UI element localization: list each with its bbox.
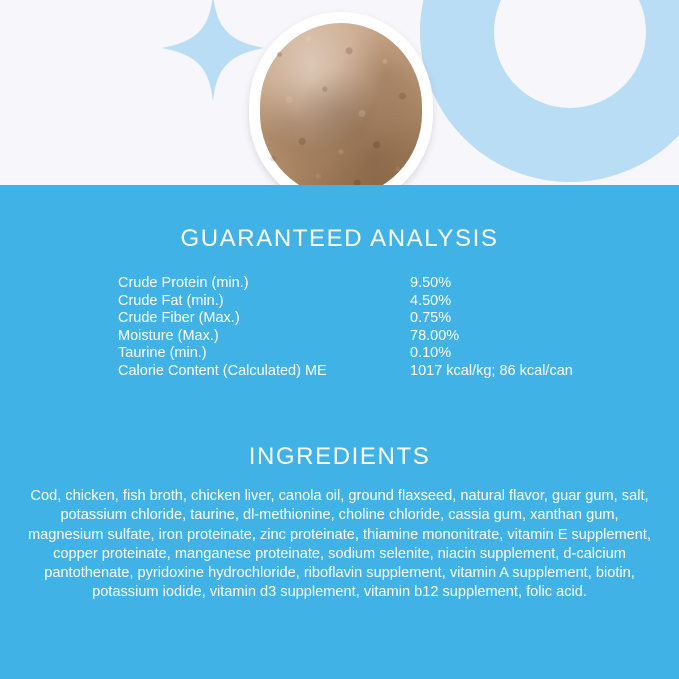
table-row: Crude Protein (min.) 9.50% bbox=[118, 275, 578, 293]
analysis-value: 0.75% bbox=[410, 310, 578, 328]
food-bowl-image bbox=[249, 12, 433, 185]
analysis-label: Crude Fat (min.) bbox=[118, 293, 410, 311]
ingredients-title: INGREDIENTS bbox=[0, 443, 679, 471]
table-row: Crude Fiber (Max.) 0.75% bbox=[118, 310, 578, 328]
table-row: Taurine (min.) 0.10% bbox=[118, 345, 578, 363]
analysis-value: 4.50% bbox=[410, 293, 578, 311]
analysis-label: Calorie Content (Calculated) ME bbox=[118, 363, 410, 381]
analysis-value: 9.50% bbox=[410, 275, 578, 293]
guaranteed-analysis-table: Crude Protein (min.) 9.50% Crude Fat (mi… bbox=[118, 275, 578, 381]
analysis-label: Crude Protein (min.) bbox=[118, 275, 410, 293]
table-row: Crude Fat (min.) 4.50% bbox=[118, 293, 578, 311]
ingredients-text: Cod, chicken, fish broth, chicken liver,… bbox=[26, 487, 653, 603]
pate-texture bbox=[260, 23, 422, 185]
table-row: Calorie Content (Calculated) ME 1017 kca… bbox=[118, 363, 578, 381]
analysis-label: Crude Fiber (Max.) bbox=[118, 310, 410, 328]
info-panel bbox=[0, 185, 679, 679]
table-row: Moisture (Max.) 78.00% bbox=[118, 328, 578, 346]
product-info-page: GUARANTEED ANALYSIS Crude Protein (min.)… bbox=[0, 0, 679, 679]
hero-banner bbox=[0, 0, 679, 185]
guaranteed-analysis-title: GUARANTEED ANALYSIS bbox=[0, 225, 679, 253]
analysis-value: 1017 kcal/kg; 86 kcal/can bbox=[410, 363, 578, 381]
ring-decoration-icon bbox=[420, 0, 679, 182]
analysis-value: 0.10% bbox=[410, 345, 578, 363]
guaranteed-analysis-rows: Crude Protein (min.) 9.50% Crude Fat (mi… bbox=[118, 275, 578, 381]
pate-food-surface bbox=[260, 23, 422, 185]
analysis-value: 78.00% bbox=[410, 328, 578, 346]
analysis-label: Taurine (min.) bbox=[118, 345, 410, 363]
analysis-label: Moisture (Max.) bbox=[118, 328, 410, 346]
